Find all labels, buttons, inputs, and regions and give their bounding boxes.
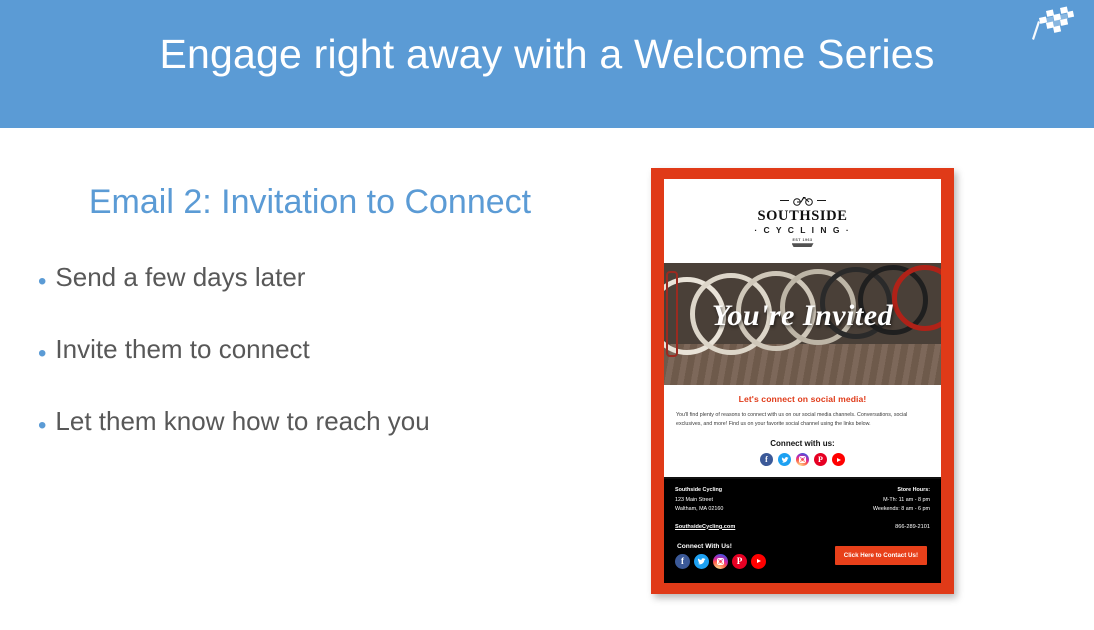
footer-website-link[interactable]: SouthsideCycling.com [675, 524, 735, 530]
email-brand-sub: · C Y C L I N G · [754, 226, 850, 235]
checkered-flag-icon [1028, 5, 1076, 43]
page-title: Engage right away with a Welcome Series [0, 30, 1094, 79]
logo-dash-right [817, 200, 826, 201]
youtube-icon[interactable] [832, 453, 845, 466]
facebook-icon[interactable]: f [760, 453, 773, 466]
email-mockup-card: SOUTHSIDE · C Y C L I N G · EST 1963 [651, 168, 954, 594]
email-body-section: Let's connect on social media! You'll fi… [664, 385, 941, 477]
left-content-column: Email 2: Invitation to Connect • Send a … [30, 180, 590, 479]
email-footer: Southside Cycling 123 Main Street Waltha… [664, 477, 941, 583]
footer-address-block: Southside Cycling 123 Main Street Waltha… [675, 486, 723, 514]
instagram-icon[interactable] [796, 453, 809, 466]
email-connect-label: Connect with us: [676, 439, 929, 448]
footer-info-row: Southside Cycling 123 Main Street Waltha… [675, 486, 930, 514]
footer-phone: 866-289-2101 [895, 524, 930, 530]
bullet-text: Invite them to connect [55, 335, 309, 365]
bullet-dot-icon: • [38, 414, 46, 438]
youtube-icon[interactable] [751, 554, 766, 569]
footer-address-line1: 123 Main Street [675, 496, 723, 505]
list-item: • Invite them to connect [38, 335, 590, 366]
twitter-icon[interactable] [778, 453, 791, 466]
bullet-text: Send a few days later [55, 263, 305, 293]
email-inner-body: SOUTHSIDE · C Y C L I N G · EST 1963 [664, 179, 941, 583]
pinterest-icon[interactable]: P [814, 453, 827, 466]
footer-connect-label: Connect With Us! [675, 543, 766, 550]
facebook-icon[interactable]: f [675, 554, 690, 569]
footer-hours-block: Store Hours: M-Th: 11 am - 8 pm Weekends… [873, 486, 930, 514]
bullet-text: Let them know how to reach you [55, 407, 429, 437]
email-brand-name: SOUTHSIDE [757, 209, 847, 224]
pinterest-icon[interactable]: P [732, 554, 747, 569]
logo-ribbon-decoration [792, 243, 814, 247]
bicycle-icon [780, 195, 826, 206]
hero-caption: You're Invited [664, 299, 941, 333]
email-social-row: f P [676, 453, 929, 466]
footer-hours-line1: M-Th: 11 am - 8 pm [873, 496, 930, 505]
email-brand-est: EST 1963 [793, 239, 813, 243]
email-body-paragraph: You'll find plenty of reasons to connect… [676, 411, 929, 429]
list-item: • Send a few days later [38, 263, 590, 294]
bullet-dot-icon: • [38, 270, 46, 294]
footer-hours-label: Store Hours: [873, 486, 930, 495]
bullet-dot-icon: • [38, 342, 46, 366]
footer-hours-line2: Weekends: 8 am - 6 pm [873, 505, 930, 514]
slide-root: Engage right away with a Welcome Series [0, 0, 1094, 630]
email-hero-image: You're Invited [664, 263, 941, 385]
footer-contact-row: SouthsideCycling.com 866-289-2101 [675, 524, 930, 530]
logo-dash-left [780, 200, 789, 201]
footer-business-name: Southside Cycling [675, 486, 723, 495]
email-logo-block: SOUTHSIDE · C Y C L I N G · EST 1963 [664, 179, 941, 263]
footer-connect-block: Connect With Us! f P [675, 543, 766, 569]
footer-social-icons: f P [675, 554, 766, 569]
footer-address-line2: Waltham, MA 02160 [675, 505, 723, 514]
footer-social-row: Connect With Us! f P Click Here to Conta… [675, 543, 930, 569]
slide-header-band: Engage right away with a Welcome Series [0, 0, 1094, 128]
email-body-headline: Let's connect on social media! [676, 394, 929, 404]
bullet-list: • Send a few days later • Invite them to… [30, 263, 590, 438]
contact-us-button[interactable]: Click Here to Contact Us! [835, 546, 927, 565]
email-heading: Email 2: Invitation to Connect [30, 180, 590, 225]
bicycle-glyph-icon [792, 195, 814, 206]
list-item: • Let them know how to reach you [38, 407, 590, 438]
twitter-icon[interactable] [694, 554, 709, 569]
instagram-icon[interactable] [713, 554, 728, 569]
